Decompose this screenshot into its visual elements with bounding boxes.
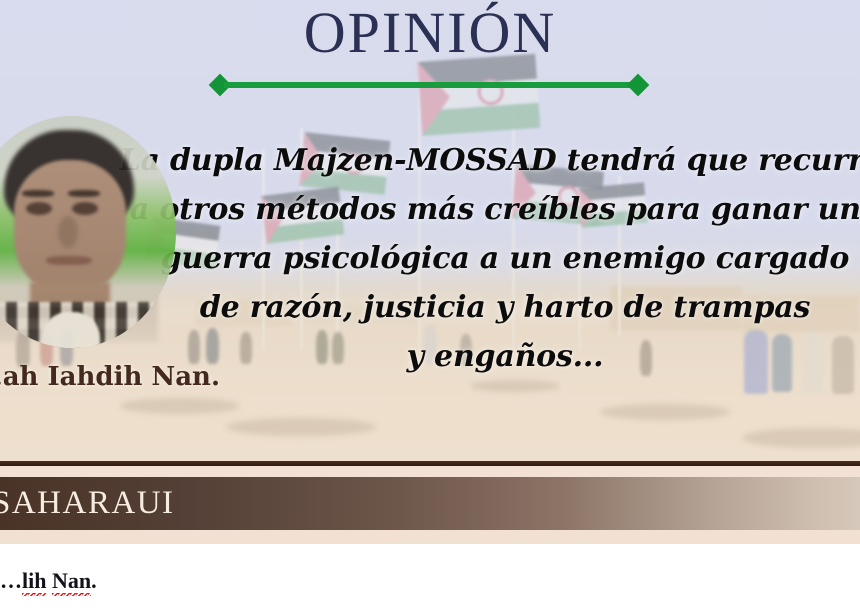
banner-footer-strip xyxy=(0,530,860,544)
body-text-prefix: … xyxy=(0,568,22,593)
diamond-right-icon xyxy=(627,74,650,97)
rule-bar xyxy=(224,82,634,88)
banner-label: SAHARAUI xyxy=(0,485,175,522)
misspelled-word[interactable]: lih xyxy=(22,568,46,596)
avatar-eyebrow xyxy=(68,190,100,197)
avatar-mouth xyxy=(46,256,92,265)
document-body-line[interactable]: …lih Nan. xyxy=(0,568,860,594)
decorative-rule xyxy=(212,75,646,95)
avatar xyxy=(0,116,176,348)
author-byline: …ah Iahdih Nan. xyxy=(0,362,220,392)
banner-bar: SAHARAUI xyxy=(0,477,860,530)
document-page: OPINIÓN La dupla Majzen-MOSSAD tendrá qu… xyxy=(0,0,860,613)
page-title: OPINIÓN xyxy=(0,2,860,65)
ground-shadow xyxy=(470,380,560,392)
ground-shadow xyxy=(226,418,376,436)
misspelled-word[interactable]: Nan xyxy=(52,568,91,596)
banner-divider-gap xyxy=(0,466,860,477)
ground-shadow xyxy=(120,398,240,414)
ground-shadow xyxy=(600,404,730,420)
avatar-eyebrow xyxy=(22,190,54,197)
avatar-eye xyxy=(26,202,52,215)
avatar-eye xyxy=(72,202,98,215)
article-header-image[interactable]: OPINIÓN La dupla Majzen-MOSSAD tendrá qu… xyxy=(0,0,860,544)
body-text-suffix: . xyxy=(91,568,97,593)
avatar-nose xyxy=(58,216,78,248)
